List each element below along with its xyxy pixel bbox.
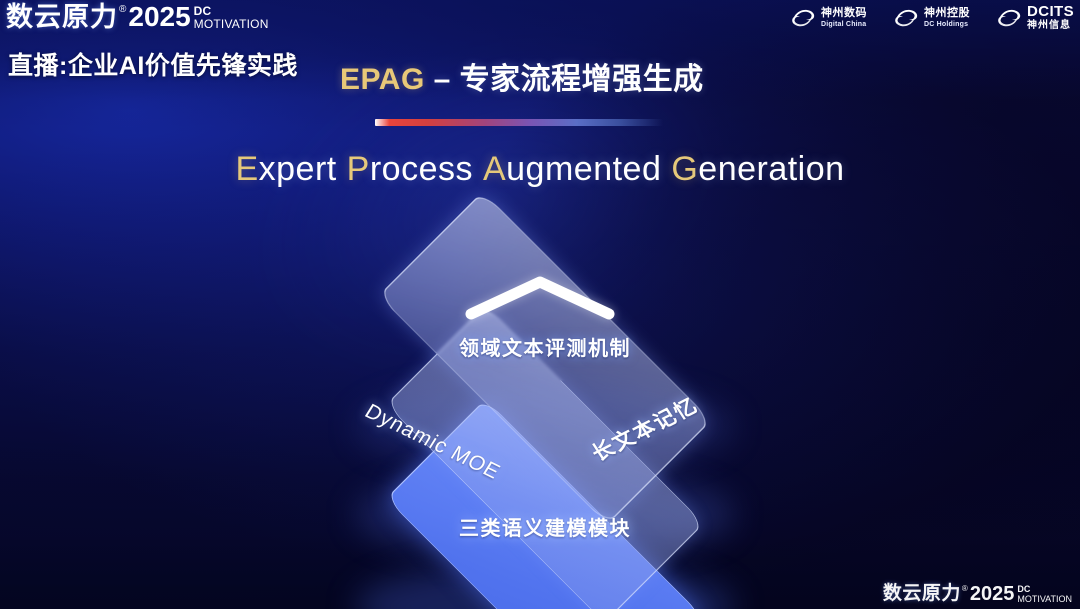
partner-logo-dcits: DCITS 神州信息 <box>996 4 1074 31</box>
swirl-logo-icon <box>790 7 816 29</box>
brand-name-cn: 数云原力 <box>6 2 118 32</box>
gradient-divider <box>375 119 663 126</box>
subtitle-cap-p: P <box>347 150 370 188</box>
swirl-logo-icon <box>893 7 919 29</box>
partner-name-cn: 神州控股 <box>924 8 970 19</box>
partner-text: 神州数码 Digital China <box>821 8 867 28</box>
watermark-registered-mark-icon: ® <box>962 583 968 594</box>
partner-logo-group: 神州数码 Digital China 神州控股 DC Holdings <box>790 4 1074 31</box>
subtitle-rest-expert: xpert <box>259 150 337 188</box>
watermark-motivation: MOTIVATION <box>1017 595 1072 604</box>
headline-title-cn: 专家流程增强生成 <box>460 63 704 96</box>
subtitle-rest-generation: eneration <box>698 150 844 188</box>
brand-dc: DC <box>194 5 269 17</box>
brand-year: 2025 <box>128 2 190 32</box>
partner-logo-dc-holdings: 神州控股 DC Holdings <box>893 7 970 29</box>
brand-motivation: MOTIVATION <box>194 18 269 30</box>
layered-architecture-diagram: 领域文本评测机制 Dynamic MOE 长文本记忆 三类语义建模模块 <box>315 232 775 562</box>
partner-name-en: DCITS <box>1027 4 1074 19</box>
subtitle-cap-e: E <box>235 150 258 188</box>
subtitle-rest-augmented: ugmented <box>506 150 661 188</box>
watermark-dc-motivation: DC MOTIVATION <box>1017 585 1072 604</box>
live-session-title: 直播:企业AI价值先锋实践 <box>8 46 298 82</box>
partner-name-en: DC Holdings <box>924 21 970 28</box>
page-title: EPAG – 专家流程增强生成 <box>340 54 704 98</box>
footer-watermark-logo: 数云原力 ® 2025 DC MOTIVATION <box>883 583 1072 605</box>
subtitle-rest-process: rocess <box>370 150 473 188</box>
swirl-logo-icon <box>996 7 1022 29</box>
watermark-dc: DC <box>1017 585 1072 594</box>
brand-dc-motivation: DC MOTIVATION <box>194 5 269 30</box>
partner-text: DCITS 神州信息 <box>1027 4 1074 31</box>
partner-name-cn: 神州数码 <box>821 8 867 19</box>
partner-name-en: Digital China <box>821 21 867 28</box>
english-subtitle: Expert Process Augmented Generation <box>0 150 1080 189</box>
brand-logo: 数云原力 ® 2025 DC MOTIVATION <box>6 2 269 32</box>
registered-mark-icon: ® <box>119 3 126 17</box>
partner-text: 神州控股 DC Holdings <box>924 8 970 28</box>
headline-acronym: EPAG <box>340 63 425 96</box>
headline-separator: – <box>425 63 460 96</box>
subtitle-cap-g: G <box>671 150 698 188</box>
partner-name-cn: 神州信息 <box>1027 21 1074 31</box>
slide-canvas: 数云原力 ® 2025 DC MOTIVATION 直播:企业AI价值先锋实践 … <box>0 0 1080 609</box>
stack-label-top: 领域文本评测机制 <box>315 332 775 361</box>
partner-logo-digital-china: 神州数码 Digital China <box>790 7 867 29</box>
watermark-name-cn: 数云原力 <box>883 583 961 605</box>
subtitle-cap-a: A <box>483 150 506 188</box>
watermark-year: 2025 <box>970 583 1015 605</box>
stack-label-bottom: 三类语义建模模块 <box>315 512 775 541</box>
